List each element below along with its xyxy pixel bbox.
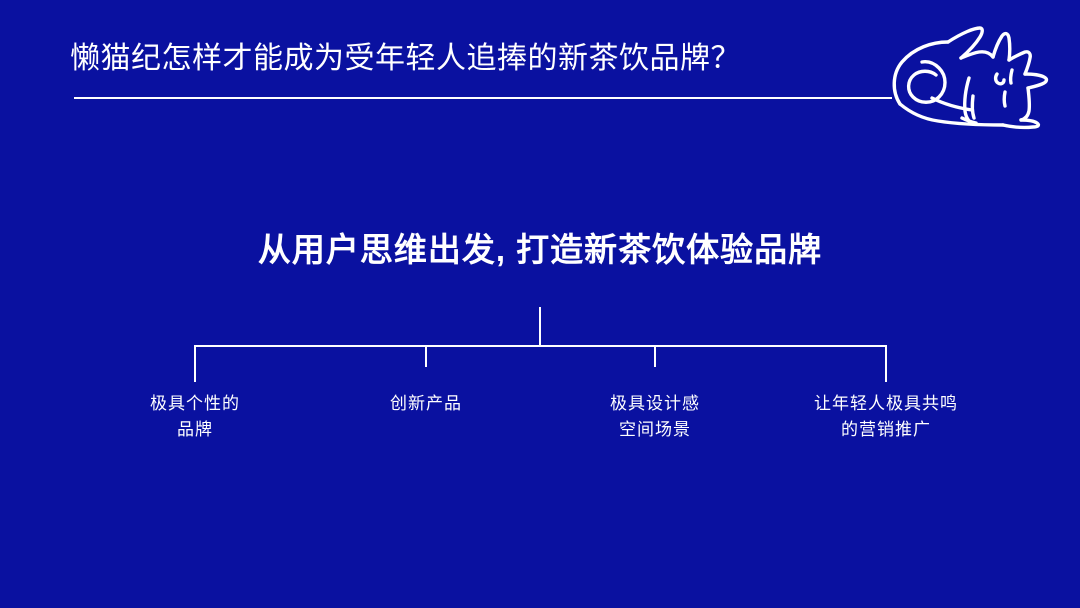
- branch-label-4-line-1: 让年轻人极具共鸣: [771, 391, 1001, 417]
- connector-horizontal-bar: [194, 345, 887, 347]
- header-divider: [74, 97, 892, 99]
- branch-label-2-line-1: 创新产品: [311, 391, 541, 417]
- branch-label-4-line-2: 的营销推广: [771, 417, 1001, 443]
- connector-drop-2: [425, 345, 427, 367]
- branch-label-3-line-2: 空间场景: [540, 417, 770, 443]
- branch-label-3: 极具设计感 空间场景: [540, 391, 770, 443]
- connector-drop-3: [654, 345, 656, 367]
- branch-label-1-line-2: 品牌: [80, 417, 310, 443]
- branch-label-2: 创新产品: [311, 391, 541, 417]
- connector-drop-4: [885, 345, 887, 382]
- connector-drop-1: [194, 345, 196, 382]
- page-title: 懒猫纪怎样才能成为受年轻人追捧的新茶饮品牌？: [70, 41, 741, 77]
- branch-label-1: 极具个性的 品牌: [80, 391, 310, 443]
- slide-canvas: 懒猫纪怎样才能成为受年轻人追捧的新茶饮品牌？: [0, 0, 1080, 608]
- sleeping-cat-line-art-icon: [862, 12, 1067, 136]
- main-heading: 从用户思维出发, 打造新茶饮体验品牌: [0, 228, 1080, 272]
- branch-label-4: 让年轻人极具共鸣 的营销推广: [771, 391, 1001, 443]
- connector-stem: [539, 307, 541, 346]
- branch-label-3-line-1: 极具设计感: [540, 391, 770, 417]
- branch-label-1-line-1: 极具个性的: [80, 391, 310, 417]
